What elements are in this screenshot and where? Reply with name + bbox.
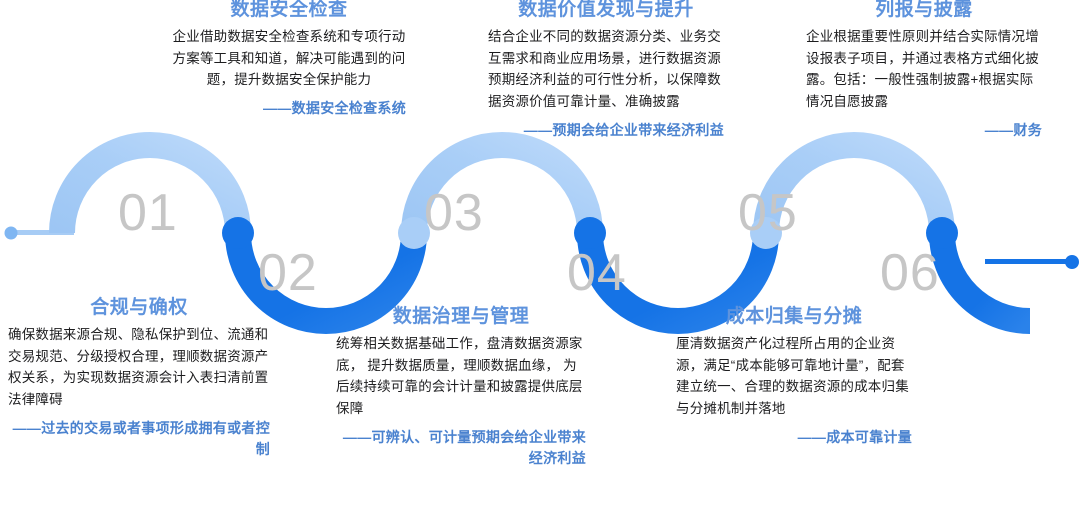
step-title-4: 数据价值发现与提升 [488,0,724,22]
step-title-1: 合规与确权 [8,296,270,320]
step-note-6: ——财务 [806,120,1042,141]
step-note-5: ——成本可靠计量 [676,427,912,448]
step-number-05: 05 [738,187,798,239]
junction-dot-1 [222,217,254,249]
step-note-3: ——可辨认、可计量预期会给企业带来经济利益 [336,427,586,469]
step-note-1: ——过去的交易或者事项形成拥有或者控制 [8,418,270,460]
start-dot-icon [5,227,18,240]
step-number-01: 01 [118,187,178,239]
step-note-2: ——数据安全检查系统 [172,98,406,119]
step-body-1: 确保数据来源合规、隐私保护到位、流通和交易规范、分级授权合理，理顺数据资源产权关… [8,324,270,411]
step-title-3: 数据治理与管理 [336,305,586,329]
step-title-6: 列报与披露 [806,0,1042,22]
end-dot-icon [1065,255,1079,269]
step-number-06: 06 [880,247,940,299]
step-number-02: 02 [258,247,318,299]
step-block-4: 数据价值发现与提升 结合企业不同的数据资源分类、业务交互需求和商业应用场景，进行… [488,0,724,141]
step-note-4: ——预期会给企业带来经济利益 [488,120,724,141]
step-number-03: 03 [424,187,484,239]
step-block-6: 列报与披露 企业根据重要性原则并结合实际情况增设报表子项目，并通过表格方式细化披… [806,0,1042,141]
step-block-2: 数据安全检查 企业借助数据安全检查系统和专项行动方案等工具和知道，解决可能遇到的… [172,0,406,119]
step-body-6: 企业根据重要性原则并结合实际情况增设报表子项目，并通过表格方式细化披露。包括：一… [806,26,1042,113]
step-body-2: 企业借助数据安全检查系统和专项行动方案等工具和知道，解决可能遇到的问题，提升数据… [172,26,406,92]
step-title-5: 成本归集与分摊 [676,305,912,329]
step-body-3: 统筹相关数据基础工作，盘清数据资源家底， 提升数据质量，理顺数据血缘， 为后续持… [336,333,586,420]
step-title-2: 数据安全检查 [172,0,406,22]
step-block-1: 合规与确权 确保数据来源合规、隐私保护到位、流通和交易规范、分级授权合理，理顺数… [8,296,270,460]
step-body-5: 厘清数据资产化过程所占用的企业资源，满足“成本能够可靠地计量”，配套建立统一、合… [676,333,912,420]
step-block-3: 数据治理与管理 统筹相关数据基础工作，盘清数据资源家底， 提升数据质量，理顺数据… [336,305,586,469]
step-body-4: 结合企业不同的数据资源分类、业务交互需求和商业应用场景，进行数据资源预期经济利益… [488,26,724,113]
step-number-04: 04 [567,247,627,299]
step-block-5: 成本归集与分摊 厘清数据资产化过程所占用的企业资源，满足“成本能够可靠地计量”，… [676,305,912,448]
